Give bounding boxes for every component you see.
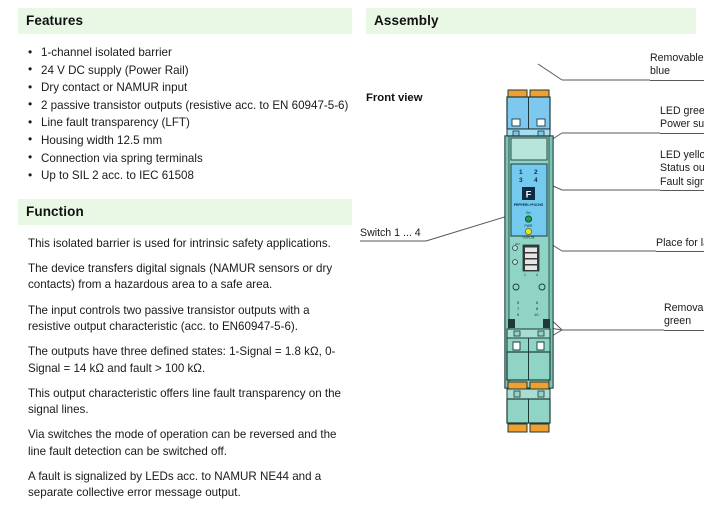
- function-paragraph: A fault is signalized by LEDs acc. to NA…: [28, 469, 350, 502]
- feature-text: Housing width 12.5 mm: [41, 134, 162, 147]
- feature-text: 24 V DC supply (Power Rail): [41, 64, 189, 77]
- callout-underline: [656, 251, 704, 252]
- callout-line: LED yellow/red:: [660, 149, 704, 162]
- svg-text:F: F: [526, 190, 532, 200]
- device-front-view: 1 2 3 4 F PEPPERL+FUCHS Err PWR: [503, 88, 555, 438]
- callout-underline: [664, 330, 704, 331]
- led-label-outchk: Out/Chk: [523, 236, 535, 240]
- dip-switch-1: [525, 248, 537, 253]
- terminal-number-3: 3: [519, 177, 523, 184]
- function-paragraph: The outputs have three defined states: 1…: [28, 344, 350, 377]
- terminal-number-10: 10: [534, 312, 539, 317]
- callout-terminal-blue: Removable spring terminal blue: [650, 52, 704, 79]
- switch-index-1: 1: [524, 273, 526, 277]
- list-item: Housing width 12.5 mm: [28, 132, 352, 150]
- callout-place-for-labeling: Place for labeling: [656, 237, 704, 250]
- top-blue-terminal-block: [507, 90, 550, 138]
- function-section-header: Function: [18, 199, 352, 225]
- terminal-number-4: 4: [534, 177, 538, 184]
- list-item: 24 V DC supply (Power Rail): [28, 62, 352, 80]
- callout-underline: [660, 190, 704, 191]
- terminal-number-2: 2: [534, 169, 538, 176]
- feature-text: Dry contact or NAMUR input: [41, 81, 187, 94]
- bottom-orange-tabs: [508, 424, 549, 432]
- callout-line: Power supply: [660, 118, 704, 131]
- assembly-section-header: Assembly: [366, 8, 696, 34]
- callout-terminals-green: Removable spring terminals green: [664, 302, 704, 329]
- dip-switch-3: [525, 260, 537, 265]
- list-item: Up to SIL 2 acc. to IEC 61508: [28, 167, 352, 185]
- callout-line: Removable spring terminal: [650, 52, 704, 65]
- function-paragraph: This output characteristic offers line f…: [28, 386, 350, 419]
- list-item: Line fault transparency (LFT): [28, 114, 352, 132]
- feature-text: Connection via spring terminals: [41, 152, 203, 165]
- feature-text: 1-channel isolated barrier: [41, 46, 172, 59]
- callout-led-green: LED green: Power supply: [660, 105, 704, 132]
- callout-underline: [650, 80, 704, 81]
- datasheet-page: Features 1-channel isolated barrier 24 V…: [0, 0, 704, 471]
- features-section-header: Features: [18, 8, 352, 34]
- callout-line: LED green:: [660, 105, 704, 118]
- callout-line: blue: [650, 65, 704, 78]
- list-item: Connection via spring terminals: [28, 150, 352, 168]
- callout-line: Switch 1 ... 4: [360, 227, 421, 240]
- dip-switch-4: [525, 266, 537, 271]
- callout-switch: Switch 1 ... 4: [360, 227, 421, 240]
- device-svg: 1 2 3 4 F PEPPERL+FUCHS Err PWR: [503, 88, 555, 438]
- list-item: Dry contact or NAMUR input: [28, 79, 352, 97]
- callout-underline: [660, 133, 704, 134]
- led-green-indicator: [525, 216, 531, 222]
- callout-led-yellow-red: LED yellow/red: Status output/ Fault sig…: [660, 149, 704, 189]
- callout-line: Place for labeling: [656, 237, 704, 250]
- feature-text: 2 passive transistor outputs (resistive …: [41, 99, 348, 112]
- device-faceplate: 1 2 3 4 F PEPPERL+FUCHS Err PWR: [511, 164, 547, 240]
- assembly-diagram: Front view: [366, 34, 696, 454]
- function-paragraph: This isolated barrier is used for intrin…: [28, 236, 350, 252]
- function-body: This isolated barrier is used for intrin…: [18, 236, 350, 502]
- function-paragraph: The device transfers digital signals (NA…: [28, 261, 350, 294]
- callout-line: Removable spring terminals: [664, 302, 704, 315]
- front-view-label: Front view: [366, 92, 423, 104]
- callout-line: Fault signal: [660, 176, 704, 189]
- dip-switch-2: [525, 254, 537, 259]
- feature-text: Line fault transparency (LFT): [41, 116, 190, 129]
- right-column: Assembly Front view: [366, 8, 696, 454]
- list-item: 2 passive transistor outputs (resistive …: [28, 97, 352, 115]
- function-paragraph: The input controls two passive transisto…: [28, 303, 350, 336]
- led-label-pwr: PWR: [525, 224, 533, 228]
- callout-line: Status output/: [660, 162, 704, 175]
- green-terminal-upper: [507, 352, 550, 380]
- terminal-number-1: 1: [519, 169, 523, 176]
- feature-text: Up to SIL 2 acc. to IEC 61508: [41, 169, 194, 182]
- led-yellow-indicator: [525, 228, 531, 234]
- function-paragraph: Via switches the mode of operation can b…: [28, 427, 350, 460]
- features-list: 1-channel isolated barrier 24 V DC suppl…: [18, 44, 352, 185]
- list-item: 1-channel isolated barrier: [28, 44, 352, 62]
- switch-index-4: 4: [536, 273, 538, 277]
- brand-wordmark: PEPPERL+FUCHS: [514, 203, 544, 207]
- lower-connector-bay-1: [507, 329, 550, 352]
- left-column: Features 1-channel isolated barrier 24 V…: [18, 8, 352, 511]
- callout-line: green: [664, 315, 704, 328]
